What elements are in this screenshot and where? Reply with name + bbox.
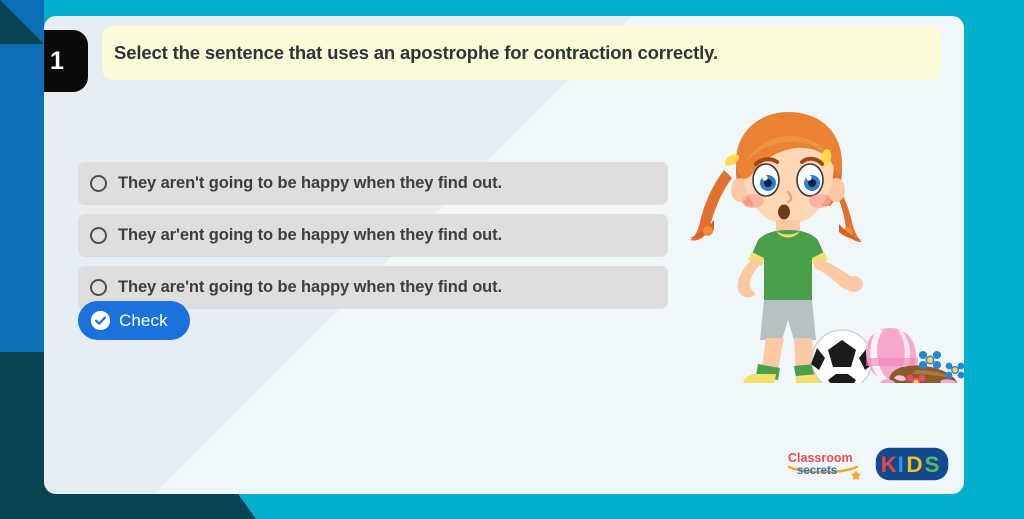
radio-button-icon-a[interactable]: [90, 175, 107, 192]
svg-text:K: K: [881, 452, 898, 477]
svg-text:D: D: [906, 452, 922, 477]
radio-button-icon-b[interactable]: [90, 227, 107, 244]
answer-option-b[interactable]: They ar'ent going to be happy when they …: [78, 214, 668, 256]
check-circle-icon: [91, 311, 110, 330]
question-banner: Select the sentence that uses an apostro…: [102, 26, 942, 80]
question-card: 1 Select the sentence that uses an apost…: [44, 16, 964, 494]
svg-text:Classroom: Classroom: [788, 451, 853, 465]
answer-option-label-c: They are'nt going to be happy when they …: [118, 278, 502, 297]
radio-button-icon-c[interactable]: [90, 279, 107, 296]
girl-with-football-and-broken-flowerpot-illustration: [684, 108, 964, 383]
lesson-slide: 1 Select the sentence that uses an apost…: [0, 0, 1024, 519]
svg-text:S: S: [925, 452, 940, 477]
question-text: Select the sentence that uses an apostro…: [114, 42, 718, 64]
svg-text:secrets: secrets: [797, 465, 837, 477]
classroom-secrets-logo: Classroom secrets: [786, 448, 866, 480]
answer-options-list: They aren't going to be happy when they …: [78, 162, 668, 318]
question-number-badge: 1: [44, 30, 88, 92]
answer-option-label-b: They ar'ent going to be happy when they …: [118, 226, 502, 245]
check-button[interactable]: Check: [78, 301, 190, 340]
brand-logos: Classroom secrets K I D S: [786, 444, 952, 484]
question-number-label: 1: [50, 47, 64, 76]
check-button-label: Check: [119, 311, 168, 331]
classroom-secrets-kids-logo: K I D S: [872, 444, 952, 484]
answer-option-a[interactable]: They aren't going to be happy when they …: [78, 162, 668, 204]
answer-option-label-a: They aren't going to be happy when they …: [118, 174, 502, 193]
svg-text:I: I: [898, 452, 904, 477]
